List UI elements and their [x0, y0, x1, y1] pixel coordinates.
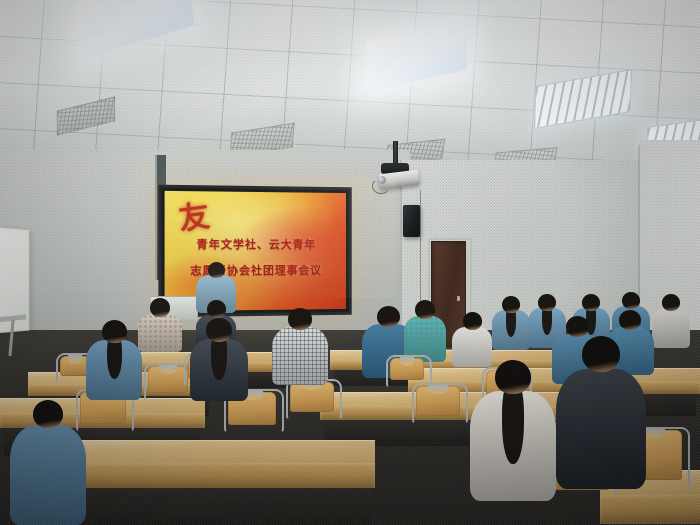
- shirt-print-pattern: [138, 314, 182, 352]
- torso-shading: [652, 308, 690, 348]
- person-head: [206, 318, 232, 342]
- torso-shading: [10, 425, 86, 525]
- person-head: [566, 316, 589, 337]
- attendee-ponytail-blue-a: [492, 296, 530, 353]
- torso-shading: [556, 369, 646, 489]
- desk-underside: [49, 488, 371, 525]
- person-head: [502, 296, 520, 313]
- desk-top: [45, 440, 375, 462]
- chair-metal-frame: [412, 383, 468, 424]
- chair-front-a[interactable]: [390, 358, 424, 380]
- person-head: [208, 262, 225, 278]
- slide-softness: [165, 191, 346, 311]
- chair-metal-frame: [386, 355, 432, 388]
- person-head: [463, 312, 482, 330]
- person-head: [582, 336, 620, 372]
- person-torso: [138, 314, 182, 352]
- person-head: [538, 294, 556, 311]
- person-head: [33, 400, 63, 428]
- desk-front-panel: [45, 462, 375, 488]
- door-knob-icon[interactable]: [457, 296, 460, 301]
- attendee-checkered-shirt: [272, 308, 328, 388]
- person-head: [102, 320, 127, 343]
- chair-right-a[interactable]: [416, 386, 460, 416]
- person-torso: [10, 425, 86, 525]
- attendee-left-longhair-blue: [86, 320, 142, 403]
- shirt-check-pattern: [272, 327, 328, 385]
- person-head: [377, 306, 400, 327]
- person-head: [207, 300, 226, 318]
- chair-left-b[interactable]: [148, 366, 188, 393]
- desk-top-surface: [45, 440, 375, 463]
- person-head: [288, 308, 312, 330]
- person-head: [619, 310, 641, 330]
- person-head: [582, 294, 600, 311]
- person-head: [415, 300, 435, 319]
- attendee-foreground-cream: [470, 360, 556, 504]
- projector-cable: [372, 178, 390, 194]
- person-head: [495, 360, 531, 394]
- attendee-foreground-left-blue: [10, 400, 86, 525]
- attendee-back-white: [652, 294, 690, 351]
- person-head: [662, 294, 680, 311]
- classroom-photo: 友 青年文学社、云大青年 志愿者协会社团理事会议 Classroom prese…: [0, 0, 700, 525]
- person-head: [622, 292, 640, 309]
- person-head: [150, 298, 170, 317]
- wall-speaker: [403, 205, 420, 237]
- person-torso: [556, 369, 646, 489]
- attendee-foreground-dark: [556, 336, 646, 492]
- person-torso: [652, 308, 690, 348]
- attendee-front-left-floral: [138, 298, 182, 355]
- desk-front-panel: [600, 494, 700, 524]
- projected-slide: 友 青年文学社、云大青年 志愿者协会社团理事会议: [165, 191, 346, 311]
- person-torso: [272, 327, 328, 385]
- attendee-left-longhair-dark: [190, 318, 248, 404]
